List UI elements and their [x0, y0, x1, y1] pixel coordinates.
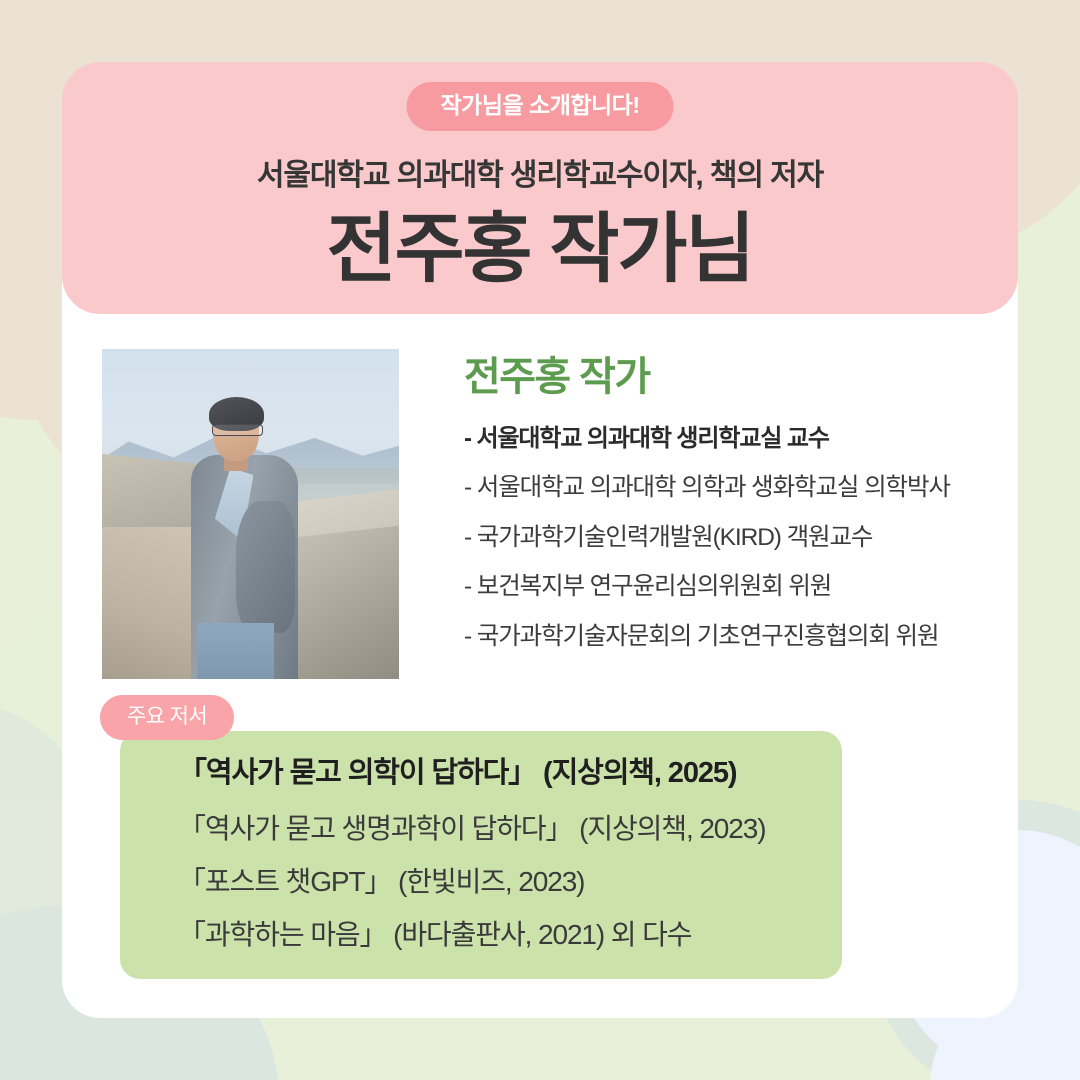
- list-item: - 서울대학교 의과대학 생리학교실 교수: [464, 427, 950, 451]
- portrait-jeans: [197, 623, 274, 679]
- list-item: - 국가과학기술자문회의 기초연구진흥협의회 위원: [464, 625, 950, 650]
- books-list-box: 「역사가 묻고 의학이 답하다」 (지상의책, 2025) 「역사가 묻고 생명…: [120, 731, 842, 979]
- list-item: - 서울대학교 의과대학 의학과 생화학교실 의학박사: [464, 476, 950, 501]
- list-item: 「과학하는 마음」 (바다출판사, 2021) 외 다수: [178, 921, 842, 949]
- card-canvas: 작가님을 소개합니다! 서울대학교 의과대학 생리학교수이자, 책의 저자 전주…: [0, 0, 1080, 1080]
- list-item: - 국가과학기술인력개발원(KIRD) 객원교수: [464, 526, 950, 551]
- author-name-heading: 전주홍 작가: [464, 357, 950, 397]
- bio-text-block: 전주홍 작가 - 서울대학교 의과대학 생리학교실 교수 - 서울대학교 의과대…: [399, 349, 950, 674]
- bio-section: 전주홍 작가 - 서울대학교 의과대학 생리학교실 교수 - 서울대학교 의과대…: [62, 314, 1018, 679]
- portrait-arm: [236, 501, 295, 633]
- intro-badge: 작가님을 소개합니다!: [407, 82, 674, 131]
- list-item: - 보건복지부 연구윤리심의위원회 위원: [464, 575, 950, 600]
- list-item: 「역사가 묻고 의학이 답하다」 (지상의책, 2025): [178, 759, 842, 788]
- author-intro-card: 작가님을 소개합니다! 서울대학교 의과대학 생리학교수이자, 책의 저자 전주…: [62, 62, 1018, 1018]
- author-portrait-photo: [102, 349, 399, 679]
- credentials-list: - 서울대학교 의과대학 생리학교실 교수 - 서울대학교 의과대학 의학과 생…: [464, 427, 950, 649]
- list-item: 「역사가 묻고 생명과학이 답하다」 (지상의책, 2023): [178, 815, 842, 843]
- header-subtitle: 서울대학교 의과대학 생리학교수이자, 책의 저자: [62, 158, 1018, 194]
- portrait-glasses-icon: [212, 424, 263, 437]
- page-title: 전주홍 작가님: [62, 204, 1018, 295]
- list-item: 「포스트 챗GPT」 (한빛비즈, 2023): [178, 868, 842, 896]
- major-works-badge: 주요 저서: [100, 695, 234, 740]
- card-header: 작가님을 소개합니다! 서울대학교 의과대학 생리학교수이자, 책의 저자 전주…: [62, 62, 1018, 314]
